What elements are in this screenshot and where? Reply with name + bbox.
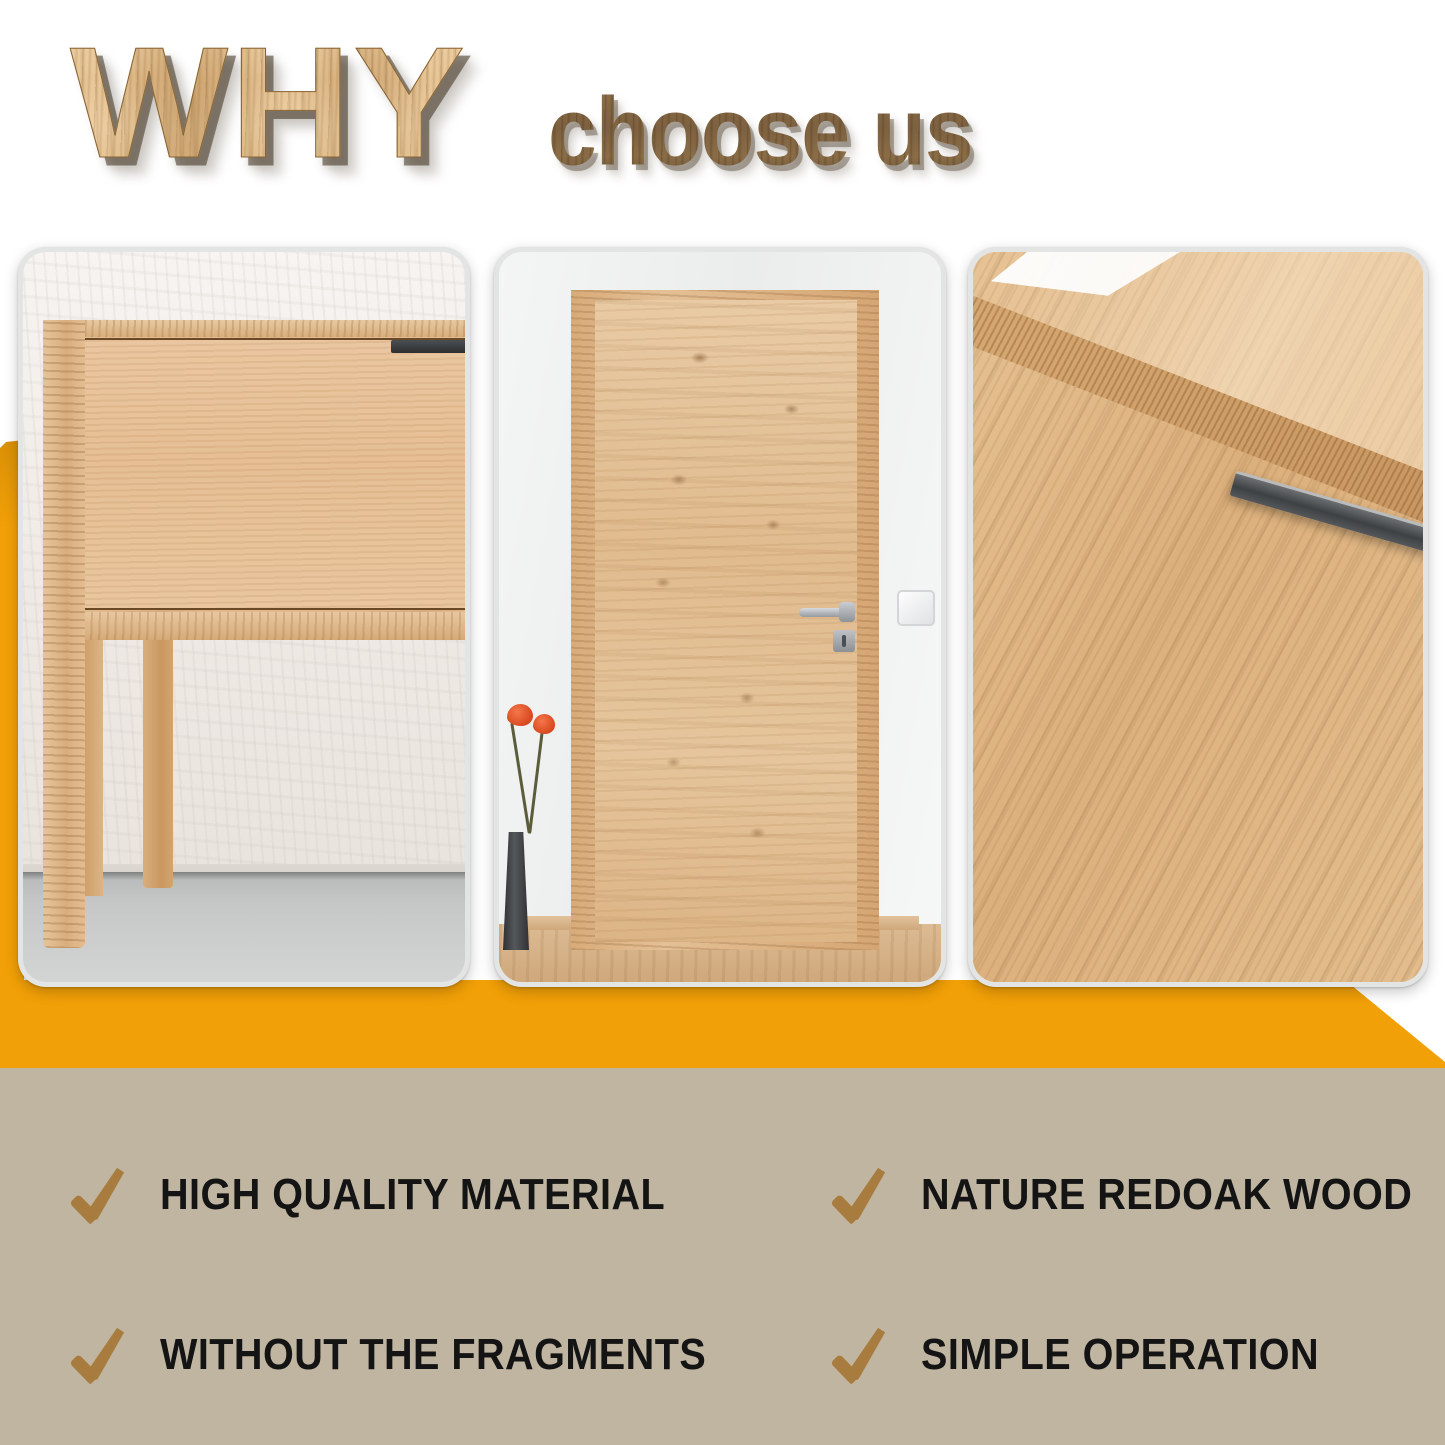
door-handle-rose <box>839 602 855 622</box>
check-icon <box>72 1324 134 1386</box>
drawer-edge-photo <box>973 252 1423 982</box>
feature-label: SIMPLE OPERATION <box>921 1330 1319 1380</box>
door-lock-escutcheon <box>833 630 855 652</box>
headline-block: WHY choose us <box>0 0 1445 215</box>
check-icon <box>833 1164 895 1226</box>
photo-gallery <box>0 247 1445 987</box>
cabinet-top-rail <box>43 320 465 337</box>
features-grid: HIGH QUALITY MATERIAL NATURE REDOAK WOOD… <box>0 1068 1445 1445</box>
oak-door-photo <box>499 252 941 982</box>
oak-door-leaf <box>595 300 857 942</box>
feature-label: HIGH QUALITY MATERIAL <box>160 1170 665 1220</box>
feature-item-without-the-fragments: WITHOUT THE FRAGMENTS <box>72 1324 767 1386</box>
cabinet-leg-inner <box>143 640 173 888</box>
feature-item-high-quality-material: HIGH QUALITY MATERIAL <box>72 1164 721 1226</box>
cabinet-door-panel <box>85 338 465 610</box>
gallery-card-drawer-edge[interactable] <box>968 247 1428 987</box>
gallery-card-oak-door[interactable] <box>494 247 946 987</box>
why-choose-us-poster: WHY choose us <box>0 0 1445 1445</box>
headline-accent-word: WHY <box>70 24 467 182</box>
check-icon <box>833 1324 895 1386</box>
feature-label: NATURE REDOAK WOOD <box>921 1170 1412 1220</box>
light-switch <box>897 590 935 626</box>
sideboard-photo <box>23 252 465 982</box>
cabinet-leg-outer <box>85 640 103 896</box>
feature-item-simple-operation: SIMPLE OPERATION <box>833 1324 1363 1386</box>
headline-rest-word: choose us <box>548 84 973 180</box>
poppy-flower-left <box>507 704 533 726</box>
cabinet-bar-handle <box>391 340 465 353</box>
check-icon <box>72 1164 134 1226</box>
cabinet-left-post <box>43 320 85 948</box>
poppy-flower-right <box>533 714 555 734</box>
features-panel: HIGH QUALITY MATERIAL NATURE REDOAK WOOD… <box>0 1068 1445 1445</box>
cabinet-bottom-rail <box>43 612 465 640</box>
gallery-card-sideboard[interactable] <box>18 247 470 987</box>
feature-item-nature-redoak-wood: NATURE REDOAK WOOD <box>833 1164 1445 1226</box>
feature-label: WITHOUT THE FRAGMENTS <box>160 1330 706 1380</box>
